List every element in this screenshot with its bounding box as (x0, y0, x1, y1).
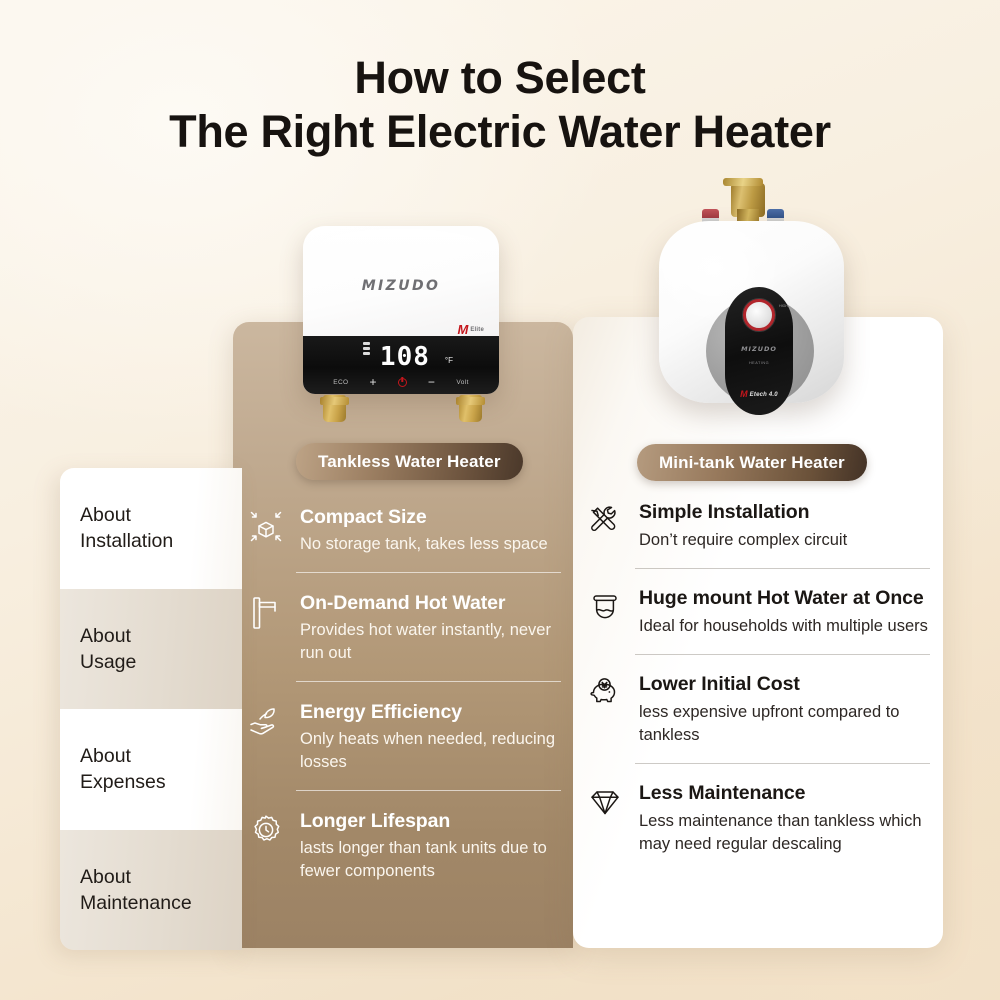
feature-title: Energy Efficiency (300, 700, 561, 725)
sidebar-item-label-line1: About (80, 864, 242, 890)
feature-title: On-Demand Hot Water (300, 591, 561, 616)
feature-desc: Only heats when needed, reducing losses (300, 728, 561, 774)
increase-button[interactable]: + (370, 376, 377, 388)
sidebar-item-label-line1: About (80, 502, 242, 528)
sidebar-item-expenses[interactable]: About Expenses (60, 709, 242, 830)
temperature-display: 108 (380, 344, 430, 370)
sub-brand-m-mark: M (457, 323, 468, 336)
sidebar-item-usage[interactable]: About Usage (60, 589, 242, 710)
minitank-brand-label: MIZUDO (725, 345, 793, 353)
water-tank-icon (585, 586, 625, 630)
tankless-sub-brand: M Elite (457, 323, 484, 336)
feature-title: Longer Lifespan (300, 809, 561, 834)
compact-cube-icon (246, 505, 286, 549)
model-m-mark: M (740, 390, 748, 399)
feature-text: Compact Size No storage tank, takes less… (300, 505, 561, 556)
feature-title: Huge mount Hot Water at Once (639, 586, 930, 611)
title-line-1: How to Select (0, 52, 1000, 104)
minitank-control-face: LOW HIGH MIZUDO HEATING M Etech 4.0 (725, 287, 793, 415)
sidebar-item-label-line2: Maintenance (80, 890, 242, 916)
minitank-model-badge: M Etech 4.0 (725, 390, 793, 399)
sidebar-item-label-line2: Usage (80, 649, 242, 675)
signal-bars-icon (363, 342, 370, 355)
feature-desc: lasts longer than tank units due to fewe… (300, 837, 561, 883)
feature-desc: No storage tank, takes less space (300, 533, 561, 556)
faucet-icon (246, 591, 286, 635)
feature-desc: Less maintenance than tankless which may… (639, 810, 930, 856)
tankless-product-image: MIZUDO M Elite 108 °F ECO + − Volt (297, 222, 510, 422)
eco-button[interactable]: ECO (333, 379, 348, 386)
feature-item: Longer Lifespan lasts longer than tank u… (246, 809, 561, 883)
sub-brand-text: Elite (470, 327, 484, 333)
tankless-feature-list: Compact Size No storage tank, takes less… (246, 505, 561, 883)
tankless-badge: Tankless Water Heater (296, 443, 523, 480)
feature-text: Longer Lifespan lasts longer than tank u… (300, 809, 561, 883)
temperature-dial[interactable] (743, 299, 775, 331)
gloss-highlight (319, 229, 484, 263)
feature-text: Simple Installation Don’t require comple… (639, 500, 930, 552)
feature-divider (635, 568, 930, 569)
feature-item: On-Demand Hot Water Provides hot water i… (246, 591, 561, 665)
sidebar-item-installation[interactable]: About Installation (60, 468, 242, 589)
feature-desc: Ideal for households with multiple users (639, 615, 930, 638)
tools-icon (585, 500, 625, 544)
piggy-bank-icon (585, 672, 625, 716)
category-sidebar: About Installation About Usage About Exp… (60, 468, 242, 950)
temperature-unit-label: °F (445, 356, 453, 365)
pressure-relief-valve (731, 183, 765, 217)
feature-item: Huge mount Hot Water at Once Ideal for h… (585, 586, 930, 638)
model-text: Etech 4.0 (750, 392, 778, 398)
minitank-product-image: LOW HIGH MIZUDO HEATING M Etech 4.0 (659, 183, 844, 403)
feature-divider (296, 790, 561, 791)
brass-fitting-left (323, 395, 346, 422)
feature-desc: less expensive upfront compared to tankl… (639, 701, 930, 747)
power-icon[interactable] (398, 378, 407, 387)
tankless-brand-label: MIZUDO (303, 278, 499, 294)
minitank-badge: Mini-tank Water Heater (637, 444, 867, 481)
title-line-2: The Right Electric Water Heater (0, 104, 1000, 160)
feature-title: Lower Initial Cost (639, 672, 930, 697)
sidebar-item-maintenance[interactable]: About Maintenance (60, 830, 242, 951)
diamond-icon (585, 781, 625, 825)
feature-item: Compact Size No storage tank, takes less… (246, 505, 561, 556)
minitank-shell: LOW HIGH MIZUDO HEATING M Etech 4.0 (659, 221, 844, 403)
feature-desc: Don’t require complex circuit (639, 529, 930, 552)
feature-item: Less Maintenance Less maintenance than t… (585, 781, 930, 856)
feature-text: On-Demand Hot Water Provides hot water i… (300, 591, 561, 665)
feature-title: Compact Size (300, 505, 561, 530)
feature-title: Less Maintenance (639, 781, 930, 806)
feature-divider (635, 654, 930, 655)
sidebar-item-label-line1: About (80, 743, 242, 769)
heating-indicator-label: HEATING (725, 361, 793, 365)
minitank-feature-list: Simple Installation Don’t require comple… (585, 500, 930, 856)
feature-desc: Provides hot water instantly, never run … (300, 619, 561, 665)
feature-divider (296, 572, 561, 573)
volt-button[interactable]: Volt (456, 379, 468, 386)
gear-clock-icon (246, 809, 286, 853)
feature-text: Huge mount Hot Water at Once Ideal for h… (639, 586, 930, 638)
sidebar-item-label-line2: Expenses (80, 769, 242, 795)
leaf-in-hand-icon (246, 700, 286, 744)
feature-item: Energy Efficiency Only heats when needed… (246, 700, 561, 774)
decrease-button[interactable]: − (428, 376, 435, 388)
feature-text: Energy Efficiency Only heats when needed… (300, 700, 561, 774)
feature-text: Lower Initial Cost less expensive upfron… (639, 672, 930, 747)
feature-text: Less Maintenance Less maintenance than t… (639, 781, 930, 856)
feature-title: Simple Installation (639, 500, 930, 525)
dial-low-label: LOW (731, 292, 739, 296)
tankless-unit-body: MIZUDO M Elite 108 °F ECO + − Volt (303, 226, 499, 394)
sidebar-item-label-line2: Installation (80, 528, 242, 554)
sidebar-item-label-line1: About (80, 623, 242, 649)
brass-fitting-right (459, 395, 482, 422)
feature-divider (296, 681, 561, 682)
dial-high-label: HIGH (779, 304, 788, 308)
tankless-button-row: ECO + − Volt (303, 376, 499, 388)
feature-item: Simple Installation Don’t require comple… (585, 500, 930, 552)
page-title: How to Select The Right Electric Water H… (0, 52, 1000, 160)
feature-item: Lower Initial Cost less expensive upfron… (585, 672, 930, 747)
feature-divider (635, 763, 930, 764)
